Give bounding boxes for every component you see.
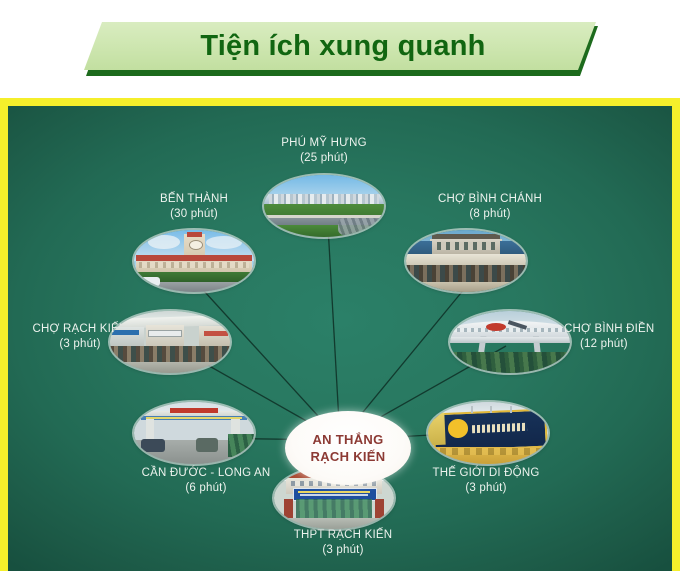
header-banner: Tiện ích xung quanh: [0, 0, 680, 100]
node-label-cho-binh-chanh: CHỢ BÌNH CHÁNH (8 phút): [400, 192, 580, 222]
node-photo-cho-binh-dien[interactable]: [450, 311, 570, 373]
center-line-1: AN THẮNG: [312, 431, 383, 448]
node-photo-cho-rach-kien[interactable]: [110, 311, 230, 373]
amenities-panel: PHÚ MỸ HƯNG (25 phút) BẾN THÀNH: [0, 98, 680, 571]
node-photo-phu-my-hung[interactable]: [264, 175, 384, 237]
node-photo-the-gioi-di-dong[interactable]: [428, 402, 548, 464]
node-label-cho-binh-dien: CHỢ BÌNH ĐIỀN (12 phút): [564, 322, 672, 352]
page-title: Tiện ích xung quanh: [200, 30, 485, 63]
center-line-2: RẠCH KIẾN: [311, 448, 386, 465]
node-label-the-gioi-di-dong: THẾ GIỚI DI ĐỘNG (3 phút): [396, 466, 576, 496]
node-photo-can-duoc-long-an[interactable]: [134, 402, 254, 464]
banner-shape: Tiện ích xung quanh: [84, 22, 596, 70]
node-label-thpt-rach-kien: THPT RẠCH KIẾN (3 phút): [258, 528, 428, 558]
node-label-ben-thanh: BẾN THÀNH (30 phút): [114, 192, 274, 222]
node-photo-cho-binh-chanh[interactable]: [406, 230, 526, 292]
amenities-panel-inner: PHÚ MỸ HƯNG (25 phút) BẾN THÀNH: [8, 106, 672, 571]
node-label-can-duoc-long-an: CẦN ĐƯỚC - LONG AN (6 phút): [106, 466, 306, 496]
node-photo-ben-thanh[interactable]: [134, 230, 254, 292]
node-label-phu-my-hung: PHÚ MỸ HƯNG (25 phút): [244, 136, 404, 166]
center-project-label[interactable]: AN THẮNG RẠCH KIẾN: [285, 411, 411, 485]
